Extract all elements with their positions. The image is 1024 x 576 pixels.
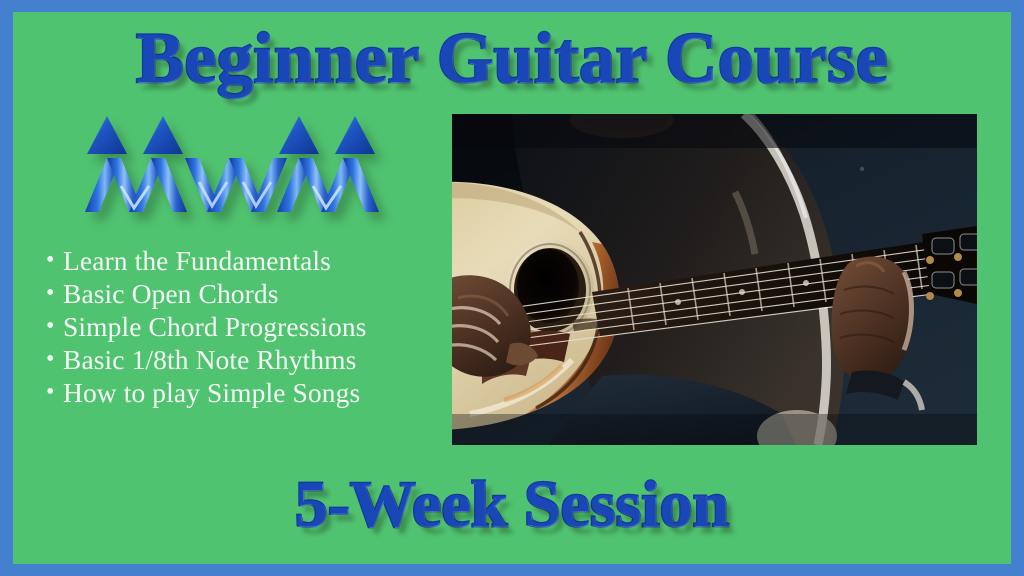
bullet-marker: • [46, 310, 63, 343]
bullet-marker: • [46, 277, 63, 310]
bullet-marker: • [46, 244, 63, 277]
bullet-marker: • [46, 376, 63, 409]
logo-letter-m-right [277, 158, 379, 212]
list-item-label: How to play Simple Songs [63, 376, 360, 409]
list-item: •Basic Open Chords [46, 277, 466, 310]
logo-triangles [87, 116, 375, 154]
mwm-logo-icon [81, 108, 401, 216]
bullet-marker: • [46, 343, 63, 376]
list-item-label: Basic 1/8th Note Rhythms [63, 343, 356, 376]
logo-letter-m-left [85, 158, 187, 212]
list-item: •How to play Simple Songs [46, 376, 466, 409]
list-item-label: Basic Open Chords [63, 277, 279, 310]
mwm-logo [81, 108, 401, 216]
guitar-photo-image [452, 114, 977, 445]
flyer-canvas: Beginner Guitar Course [13, 12, 1011, 564]
flyer: Beginner Guitar Course [0, 0, 1024, 576]
list-item-label: Simple Chord Progressions [63, 310, 366, 343]
list-item: •Simple Chord Progressions [46, 310, 466, 343]
list-item: •Basic 1/8th Note Rhythms [46, 343, 466, 376]
page-title: Beginner Guitar Course [13, 22, 1011, 94]
session-length-title: 5-Week Session [13, 472, 1011, 538]
list-item: •Learn the Fundamentals [46, 244, 466, 277]
course-highlights-list: •Learn the Fundamentals •Basic Open Chor… [46, 244, 466, 409]
logo-letter-w [185, 158, 287, 212]
list-item-label: Learn the Fundamentals [63, 244, 331, 277]
guitar-photo [452, 114, 977, 445]
